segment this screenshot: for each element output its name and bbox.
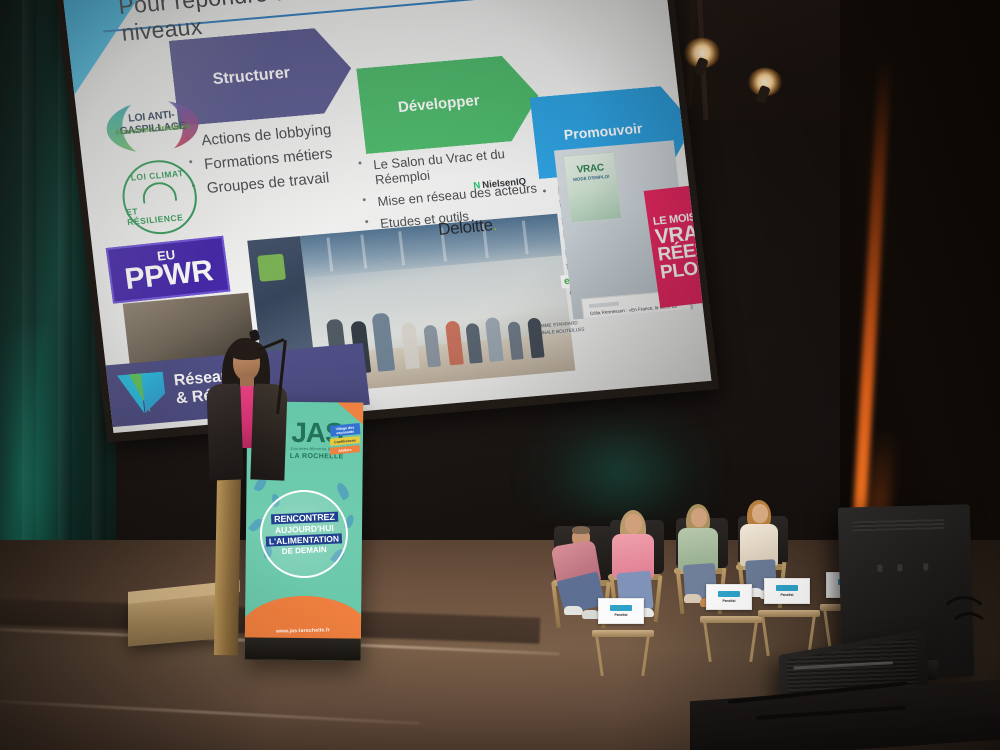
name-card: Panelist	[598, 598, 644, 624]
event-tags: Village des exposants Conférences Atelie…	[330, 424, 360, 455]
crowd-figure	[423, 325, 441, 368]
name-card-logo	[718, 591, 740, 597]
speaker-jacket-right	[250, 383, 287, 480]
crowd-figure	[465, 323, 483, 364]
crowd-figure	[445, 321, 464, 366]
crowd-figure	[485, 317, 504, 362]
ppwr-label: PPWR	[123, 257, 214, 294]
monitor-vents	[852, 519, 944, 531]
slogan-line3: L'ALIMENTATION	[266, 533, 343, 546]
arrow-label: Structurer	[212, 65, 291, 89]
monitor-vesa-mount	[897, 564, 902, 571]
speaker-jacket-left	[206, 383, 243, 480]
climat-line2: ET RÉSILIENCE	[126, 201, 198, 227]
slogan-circle: RENCONTREZ AUJOURD'HUI L'ALIMENTATION DE…	[260, 490, 349, 579]
bullets-structurer: Actions de lobbying Formations métiers G…	[184, 117, 382, 205]
lectern-base	[245, 637, 361, 660]
coiled-cable	[948, 612, 990, 654]
name-card-logo	[610, 605, 632, 611]
crowd-figure	[372, 313, 396, 372]
panelist-hair	[572, 526, 590, 534]
name-card: Panelist	[764, 578, 810, 604]
name-card-name: Panelist	[780, 593, 793, 597]
panelist-head	[691, 508, 707, 527]
slogan-line4: DE DEMAIN	[281, 545, 326, 556]
eu-ppwr-logo: EU PPWR	[106, 236, 231, 304]
monitor-vesa-mount	[877, 565, 882, 572]
stage-scene: Pour répondre aux enjeux du secteur, RVR…	[0, 0, 1000, 750]
panel-seating-area: Panelist Panelist Panelist	[548, 432, 878, 632]
loi-anti-gaspillage-logo: LOI ANTI-GASPILLAGE économie circulaire	[97, 94, 207, 159]
panelist-shoe	[564, 606, 583, 615]
name-card-logo	[776, 585, 798, 591]
event-tag: Ateliers	[330, 445, 361, 455]
magazine-cover: VRAC MODE D'EMPLOI	[563, 151, 623, 223]
name-card-name: Panelist	[614, 613, 627, 617]
nielseniq-mark-icon: N	[473, 180, 481, 192]
name-card: Panelist	[706, 584, 752, 610]
rvr-mark-icon	[117, 372, 167, 416]
arrow-label: Promouvoir	[563, 121, 643, 143]
deloitte-label: Deloitte	[437, 215, 493, 239]
photo-accent	[257, 254, 286, 282]
monitor-vesa-mount	[923, 563, 928, 570]
event-tag: Village des exposants	[330, 423, 361, 437]
house-icon	[141, 181, 177, 204]
projection-screen: Pour répondre aux enjeux du secteur, RVR…	[62, 0, 711, 433]
panelist-head	[752, 504, 768, 523]
crowd-figure	[401, 322, 420, 369]
panelist-head	[625, 514, 642, 534]
banner-wave-accent	[245, 595, 364, 642]
name-card-name: Panelist	[722, 599, 735, 603]
arrow-developper: Développer	[356, 53, 543, 154]
press-box-header	[589, 302, 619, 309]
slide-surface: Pour répondre aux enjeux du secteur, RVR…	[62, 0, 711, 433]
arrow-label: Développer	[397, 93, 480, 117]
climat-line1: LOI CLIMAT	[130, 168, 184, 183]
